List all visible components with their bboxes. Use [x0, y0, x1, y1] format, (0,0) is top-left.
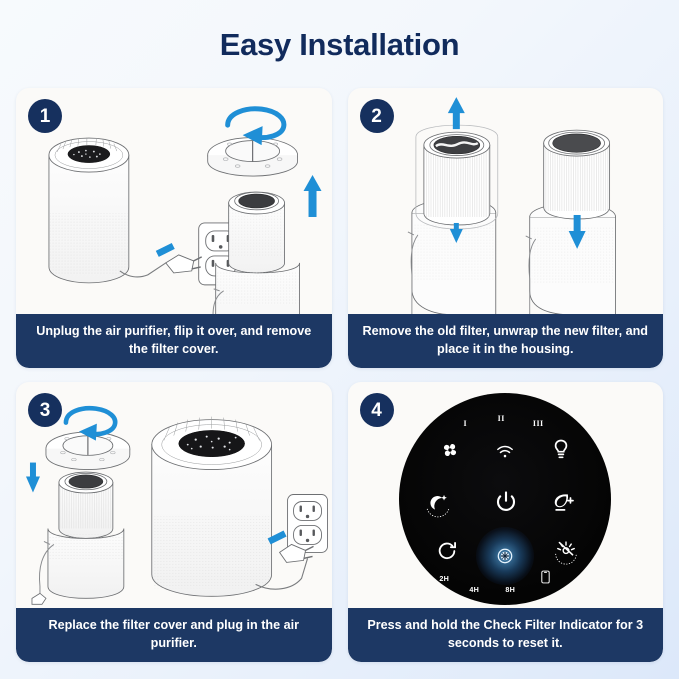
phone-app-icon [538, 569, 552, 585]
step-badge-1: 1 [28, 99, 62, 133]
plug-direction-arrow [156, 243, 175, 257]
step-card-3: 3 [16, 382, 332, 662]
timer-label-8h: 8H [501, 584, 519, 594]
step-caption-4: Press and hold the Check Filter Indicato… [348, 608, 664, 662]
timer-label-4h: 4H [465, 584, 483, 594]
step-1-illustration [16, 88, 332, 322]
timer-label-2h: 2H [435, 573, 453, 583]
fan-speed-mark-2: II [494, 412, 508, 424]
fan-speed-mark-3: III [530, 417, 546, 429]
step-caption-2: Remove the old filter, unwrap the new fi… [348, 314, 664, 368]
step-badge-2: 2 [360, 99, 394, 133]
power-icon[interactable] [491, 487, 521, 517]
step-4-illustration: I II III [348, 382, 664, 616]
step-card-4: 4 I II III [348, 382, 664, 662]
control-panel-disc: I II III [399, 393, 611, 605]
ionizer-plus-icon[interactable] [549, 489, 577, 517]
lift-arrow [304, 175, 322, 217]
old-filter-unit [407, 97, 497, 315]
filter-opening [239, 194, 275, 208]
step-caption-1: Unplug the air purifier, flip it over, a… [16, 314, 332, 368]
purifier-grille-3 [179, 430, 245, 456]
sleep-mode-icon[interactable] [421, 489, 455, 523]
step-badge-4: 4 [360, 393, 394, 427]
steps-grid: 1 [16, 88, 663, 662]
display-brightness-icon[interactable] [549, 535, 583, 567]
step-card-1: 1 [16, 88, 332, 368]
light-bulb-icon[interactable] [549, 436, 573, 464]
inverted-purifier [216, 192, 300, 322]
timer-icon[interactable] [433, 537, 461, 565]
step-card-2: 2 [348, 88, 664, 368]
check-filter-indicator[interactable] [476, 527, 534, 585]
fan-speed-icon[interactable] [437, 437, 463, 463]
step-2-illustration [348, 88, 664, 322]
step-3-illustration [16, 382, 332, 616]
page-title: Easy Installation [0, 0, 679, 60]
lift-up-arrow-old [447, 97, 464, 129]
wifi-icon[interactable] [493, 441, 517, 463]
filter-cover [208, 138, 298, 176]
inverted-purifier-3 [48, 472, 124, 598]
step-caption-3: Replace the filter cover and plug in the… [16, 608, 332, 662]
step-badge-3: 3 [28, 393, 62, 427]
filter-cover-3 [46, 432, 130, 469]
new-filter-top [552, 134, 600, 152]
wall-outlet-3 [288, 495, 328, 553]
cover-down-arrow [26, 463, 40, 493]
fan-speed-mark-1: I [459, 417, 471, 429]
new-filter-unit [525, 130, 615, 315]
plug [166, 255, 202, 273]
